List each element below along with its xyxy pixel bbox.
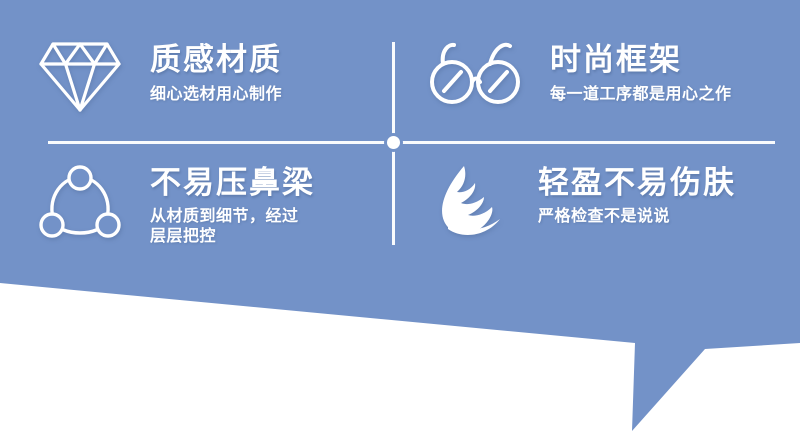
feature-title: 不易压鼻梁	[150, 167, 315, 199]
feature-subtitle: 细心选材用心制作	[150, 85, 282, 106]
feature-subtitle: 每一道工序都是用心之作	[550, 85, 732, 106]
leaf-icon	[428, 163, 512, 243]
feature-subtitle: 严格检查不是说说	[538, 207, 736, 228]
feature-item-lightweight-skin-friendly: 轻盈不易伤肤 严格检查不是说说	[428, 163, 736, 243]
feature-grid: 质感材质 细心选材用心制作 时尚框架 每一道工序都是用心之作	[0, 0, 800, 284]
feature-item-quality-material: 质感材质 细心选材用心制作	[38, 32, 282, 114]
feature-text-lightweight-skin-friendly: 轻盈不易伤肤 严格检查不是说说	[512, 163, 736, 227]
feature-item-no-nose-pressure: 不易压鼻梁 从材质到细节，经过 层层把控	[38, 163, 315, 248]
feature-item-fashion-frame: 时尚框架 每一道工序都是用心之作	[428, 32, 732, 108]
feature-banner: 质感材质 细心选材用心制作 时尚框架 每一道工序都是用心之作	[0, 0, 800, 444]
feature-title: 轻盈不易伤肤	[538, 167, 736, 199]
feature-text-no-nose-pressure: 不易压鼻梁 从材质到细节，经过 层层把控	[122, 163, 315, 248]
feature-title: 质感材质	[150, 44, 282, 76]
glasses-icon	[428, 32, 524, 108]
nose-pad-icon	[38, 163, 122, 247]
feature-subtitle: 从材质到细节，经过 层层把控	[150, 207, 315, 249]
feature-text-quality-material: 质感材质 细心选材用心制作	[122, 32, 282, 105]
diamond-icon	[38, 32, 122, 114]
feature-title: 时尚框架	[550, 44, 732, 76]
feature-text-fashion-frame: 时尚框架 每一道工序都是用心之作	[524, 32, 732, 105]
